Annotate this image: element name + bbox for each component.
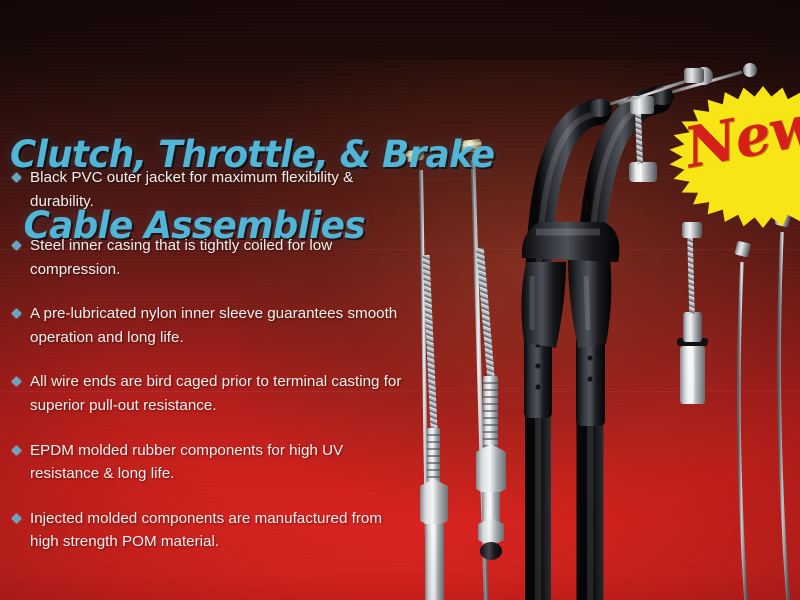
- feature-text: All wire ends are bird caged prior to te…: [30, 373, 401, 414]
- list-item: Steel inner casing that is tightly coile…: [10, 234, 410, 281]
- diamond-bullet-icon: [12, 173, 22, 183]
- feature-text: A pre-lubricated nylon inner sleeve guar…: [30, 305, 397, 346]
- diamond-bullet-icon: [12, 309, 22, 319]
- list-item: EPDM molded rubber components for high U…: [10, 439, 410, 486]
- diamond-bullet-icon: [12, 445, 22, 455]
- diamond-bullet-icon: [12, 513, 22, 523]
- feature-text: Black PVC outer jacket for maximum flexi…: [30, 169, 353, 210]
- product-banner: Clutch, Throttle, & Brake Cable Assembli…: [0, 0, 800, 600]
- feature-text: Steel inner casing that is tightly coile…: [30, 237, 332, 278]
- feature-list: Black PVC outer jacket for maximum flexi…: [10, 166, 410, 554]
- feature-text: Injected molded components are manufactu…: [30, 510, 382, 551]
- diamond-bullet-icon: [12, 241, 22, 251]
- list-item: Black PVC outer jacket for maximum flexi…: [10, 166, 410, 213]
- feature-text: EPDM molded rubber components for high U…: [30, 442, 343, 483]
- list-item: Injected molded components are manufactu…: [10, 507, 410, 554]
- diamond-bullet-icon: [12, 377, 22, 387]
- list-item: All wire ends are bird caged prior to te…: [10, 370, 410, 417]
- list-item: A pre-lubricated nylon inner sleeve guar…: [10, 302, 410, 349]
